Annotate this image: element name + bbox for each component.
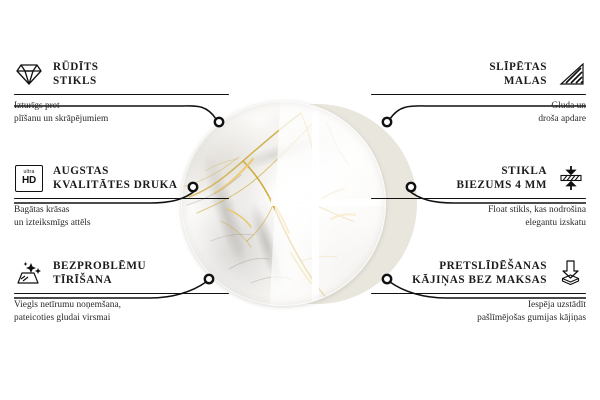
feature-description: Bagātas krāsas un izteiksmīgs attēls <box>14 204 229 229</box>
feature-description: Iespēja uzstādīt pašlīmējošas gumijas kā… <box>371 299 586 324</box>
feature-easy-cleaning: BEZPROBLĒMU TĪRĪŠANA Viegls netīrumu noņ… <box>14 259 229 324</box>
feature-anti-slip-feet: PRETSLĪDĒŠANAS KĀJIŅAS BEZ MAKSAS Iespēj… <box>371 259 586 324</box>
feature-tempered-glass: RŪDĪTS STIKLS Izturīgs pret plīšanu un s… <box>14 60 229 125</box>
feature-title-line1: PRETSLĪDĒŠANAS <box>439 260 547 272</box>
feature-title-line2: BIEZUMS 4 MM <box>456 178 547 192</box>
feature-header: BEZPROBLĒMU TĪRĪŠANA <box>14 259 229 287</box>
feature-desc-line1: Iespēja uzstādīt <box>528 300 586 310</box>
feature-header: STIKLA BIEZUMS 4 MM <box>371 164 586 192</box>
thickness-arrows-icon <box>556 164 586 192</box>
feature-title: AUGSTAS KVALITĀTES DRUKA <box>53 164 178 192</box>
ultra-hd-icon: ultra HD <box>14 164 44 192</box>
feature-description: Viegls netīrumu noņemšana, pateicoties g… <box>14 299 229 324</box>
divider <box>14 293 229 294</box>
feature-title-line2: KĀJIŅAS BEZ MAKSAS <box>412 273 547 287</box>
feature-desc-line1: Float stikls, kas nodrošina <box>488 205 586 215</box>
press-down-pad-icon <box>556 259 586 287</box>
feature-description: Gluda un droša apdare <box>371 100 586 125</box>
feature-title-line2: STIKLS <box>53 74 99 88</box>
feature-header: ultra HD AUGSTAS KVALITĀTES DRUKA <box>14 164 229 192</box>
feature-desc-line2: plīšanu un skrāpējumiem <box>14 113 229 125</box>
feature-desc-line2: elegantu izskatu <box>371 217 586 229</box>
feature-desc-line2: droša apdare <box>371 113 586 125</box>
feature-polished-edges: SLĪPĒTAS MALAS Gluda un droša apdare <box>371 60 586 125</box>
feature-desc-line1: Viegls netīrumu noņemšana, <box>14 300 121 310</box>
feature-desc-line1: Bagātas krāsas <box>14 205 69 215</box>
diagonal-stripes-icon <box>556 60 586 88</box>
divider <box>14 198 229 199</box>
feature-desc-line1: Gluda un <box>551 101 586 111</box>
divider <box>14 94 229 95</box>
feature-title-line1: BEZPROBLĒMU <box>53 260 146 272</box>
divider <box>371 94 586 95</box>
divider <box>371 293 586 294</box>
feature-header: PRETSLĪDĒŠANAS KĀJIŅAS BEZ MAKSAS <box>371 259 586 287</box>
feature-title: STIKLA BIEZUMS 4 MM <box>456 164 547 192</box>
feature-title-line2: KVALITĀTES DRUKA <box>53 178 178 192</box>
ultra-hd-main-text: HD <box>22 176 36 186</box>
feature-title: PRETSLĪDĒŠANAS KĀJIŅAS BEZ MAKSAS <box>412 259 547 287</box>
feature-description: Float stikls, kas nodrošina elegantu izs… <box>371 204 586 229</box>
feature-high-quality-print: ultra HD AUGSTAS KVALITĀTES DRUKA Bagāta… <box>14 164 229 229</box>
feature-header: SLĪPĒTAS MALAS <box>371 60 586 88</box>
feature-title: RŪDĪTS STIKLS <box>53 60 99 88</box>
infographic-canvas: RŪDĪTS STIKLS Izturīgs pret plīšanu un s… <box>0 0 600 400</box>
sponge-sparkle-icon <box>14 259 44 287</box>
divider <box>371 198 586 199</box>
feature-desc-line1: Izturīgs pret <box>14 101 60 111</box>
feature-header: RŪDĪTS STIKLS <box>14 60 229 88</box>
feature-title: BEZPROBLĒMU TĪRĪŠANA <box>53 259 146 287</box>
diamond-icon <box>14 60 44 88</box>
feature-description: Izturīgs pret plīšanu un skrāpējumiem <box>14 100 229 125</box>
feature-title-line1: AUGSTAS <box>53 165 109 177</box>
feature-glass-thickness: STIKLA BIEZUMS 4 MM Float stikls, kas no… <box>371 164 586 229</box>
feature-desc-line2: un izteiksmīgs attēls <box>14 217 229 229</box>
feature-title-line1: RŪDĪTS <box>53 61 99 73</box>
feature-title: SLĪPĒTAS MALAS <box>489 60 547 88</box>
feature-title-line1: SLĪPĒTAS <box>489 61 547 73</box>
feature-title-line2: TĪRĪŠANA <box>53 273 146 287</box>
feature-desc-line2: pateicoties gludai virsmai <box>14 312 229 324</box>
feature-desc-line2: pašlīmējošas gumijas kājiņas <box>371 312 586 324</box>
feature-title-line2: MALAS <box>489 74 547 88</box>
feature-title-line1: STIKLA <box>501 165 547 177</box>
